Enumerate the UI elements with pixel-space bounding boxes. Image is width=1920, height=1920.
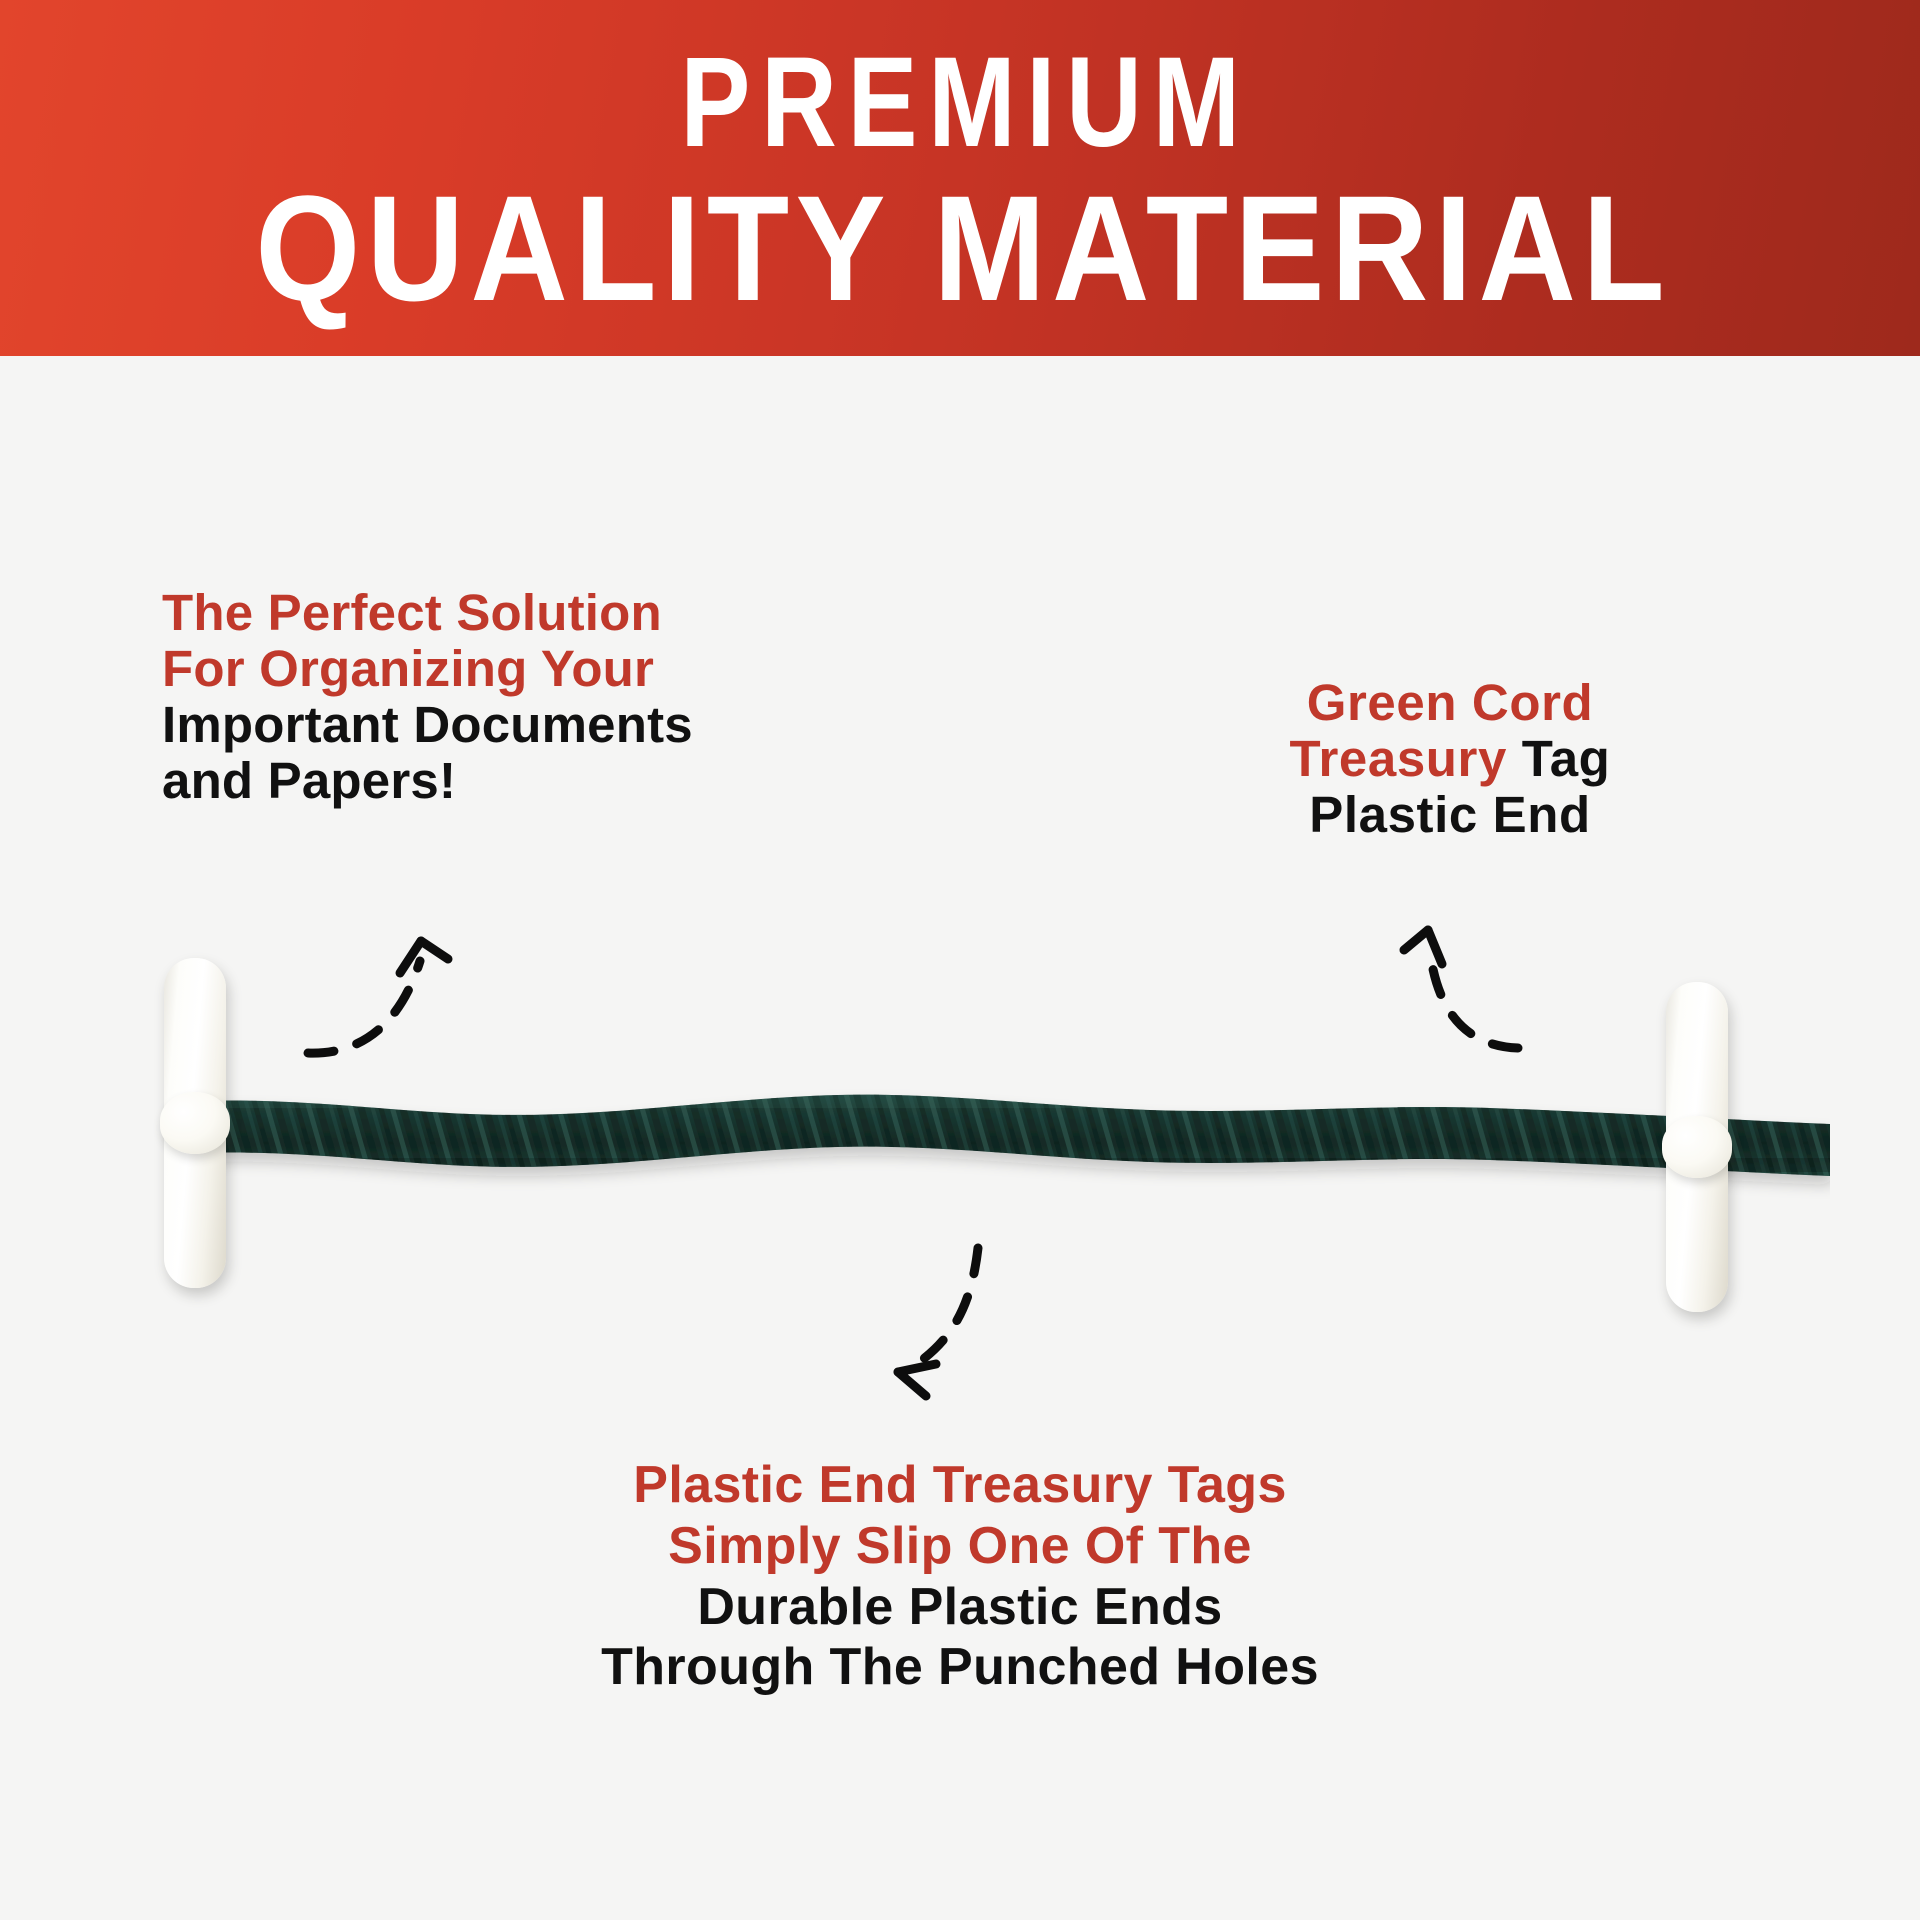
- header-banner: PREMIUM QUALITY MATERIAL: [0, 0, 1920, 356]
- arrow-left-icon: [290, 905, 520, 1105]
- banner-title-line1: PREMIUM: [670, 39, 1251, 167]
- callout-left-line-2: For Organizing Your: [162, 641, 982, 697]
- arrow-right-icon: [1390, 900, 1610, 1110]
- cord-knot-right: [1662, 1116, 1732, 1178]
- callout-right-line-3-part-1: Plastic End: [1309, 786, 1591, 843]
- banner-title-line2: QUALITY MATERIAL: [249, 173, 1671, 323]
- callout-right-line-2-part-2: Tag: [1507, 730, 1610, 787]
- callout-left-line-1: The Perfect Solution: [162, 585, 982, 641]
- infographic-page: PREMIUM QUALITY MATERIAL The Perfect Sol…: [0, 0, 1920, 1920]
- arrow-bottom-icon: [860, 1230, 1090, 1430]
- callout-right-line-1: Green Cord: [1150, 675, 1750, 731]
- callout-right-line-3: Plastic End: [1150, 787, 1750, 843]
- callout-right-line-1-part-1: Green Cord: [1307, 674, 1594, 731]
- cord-knot-left: [160, 1092, 230, 1154]
- callout-right-line-2: Treasury Tag: [1150, 731, 1750, 787]
- callout-bottom-line-4: Through The Punched Holes: [260, 1637, 1660, 1698]
- callout-bottom-line-2: Simply Slip One Of The: [260, 1516, 1660, 1577]
- callout-left-line-3: Important Documents: [162, 697, 982, 753]
- callout-bottom-line-1: Plastic End Treasury Tags: [260, 1455, 1660, 1516]
- callout-bottom-line-3: Durable Plastic Ends: [260, 1577, 1660, 1638]
- callout-right-line-2-part-1: Treasury: [1290, 730, 1507, 787]
- callout-bottom: Plastic End Treasury Tags Simply Slip On…: [260, 1455, 1660, 1698]
- callout-left: The Perfect Solution For Organizing Your…: [162, 585, 982, 809]
- callout-right: Green Cord Treasury Tag Plastic End: [1150, 675, 1750, 843]
- callout-left-line-4: and Papers!: [162, 753, 982, 809]
